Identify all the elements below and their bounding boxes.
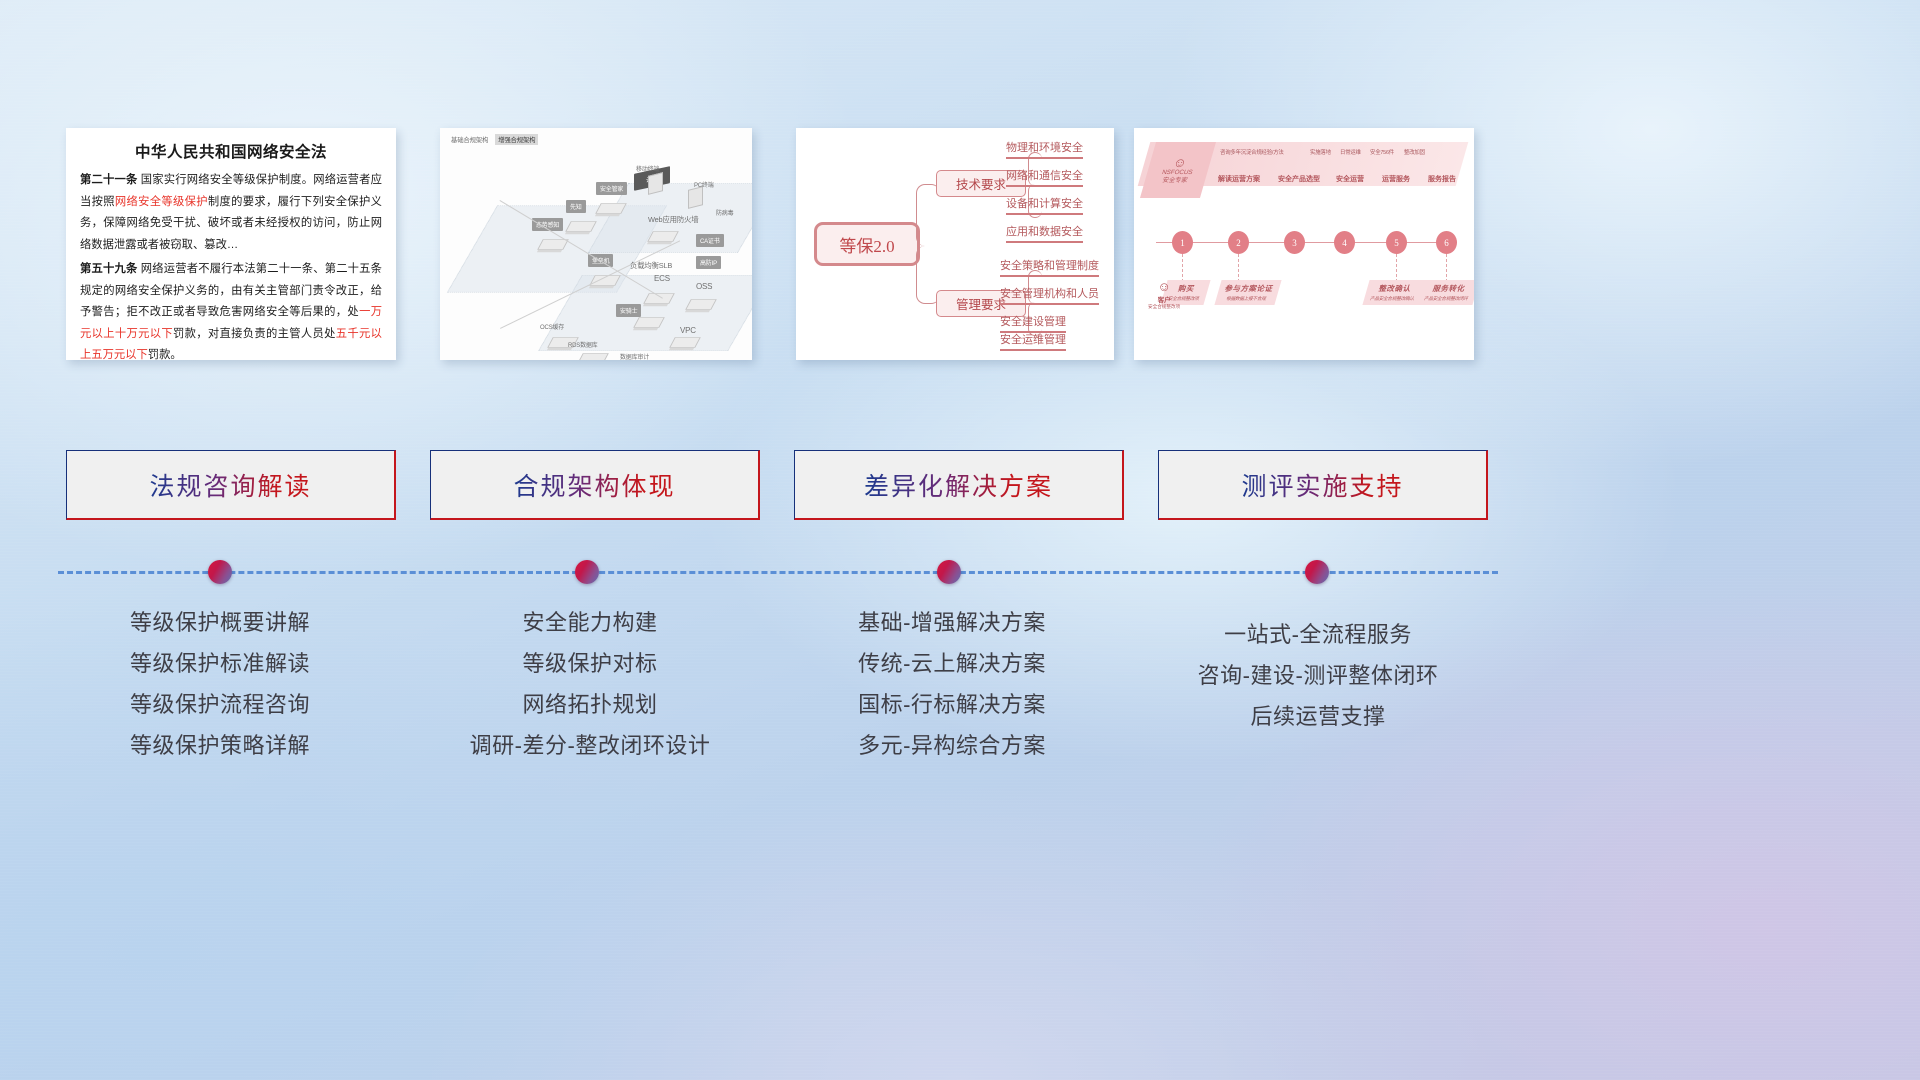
nsfocus-badge-line2: 安全专家: [1161, 177, 1188, 185]
timeline: [0, 560, 1920, 584]
mind-map-leaf-mgmt-3: 安全建设管理: [1000, 316, 1066, 333]
nsfocus-diagram: ☺ NSFOCUS 安全专家 咨询多年沉淀合规经验/方法 实施落地 日常运维 安…: [1134, 128, 1474, 360]
nsfocus-top-label-5: 整改加固: [1404, 148, 1425, 156]
node-label-vpc: VPC: [676, 324, 700, 337]
mind-map-leaf-tech-2: 网络和通信安全: [1006, 170, 1083, 187]
node-label-anqishi: 安骑士: [616, 304, 641, 317]
law-seg-2-2: 罚款，对直接负责的主管人员处: [173, 328, 336, 340]
node-label-waf: Web应用防火墙: [644, 212, 702, 227]
category-title-box-3[interactable]: 差异化解决方案: [794, 450, 1124, 520]
mind-map-leaf-tech-3: 设备和计算安全: [1006, 198, 1083, 215]
category-title-row: 法规咨询解读 合规架构体现 差异化解决方案 测评实施支持: [0, 450, 1920, 520]
nsfocus-chip-4-title: 服务转化: [1432, 283, 1467, 294]
nsfocus-chip-3-title: 整改确认: [1378, 283, 1413, 294]
nsfocus-chip-4: 服务转化 产品安全合规整改闭环: [1416, 280, 1474, 305]
node-label-slb: 负载均衡SLB: [626, 258, 676, 273]
node-label-oss: OSS: [692, 280, 716, 293]
nsfocus-chip-2: 参与方案论证 根据数据上报不合规: [1214, 280, 1281, 305]
list-item: 等级保护对标: [390, 643, 790, 684]
timeline-dot-1[interactable]: [208, 560, 232, 584]
nsfocus-customer-label: 客户: [1148, 294, 1180, 304]
nsfocus-dashed-2: [1238, 254, 1239, 282]
nsfocus-chip-2-sub: 根据数据上报不合规: [1225, 296, 1266, 302]
nsfocus-phase-5: 服务报告: [1428, 174, 1456, 184]
timeline-dot-2[interactable]: [575, 560, 599, 584]
mind-map-root: 等保2.0: [814, 222, 920, 266]
law-body: 中华人民共和国网络安全法 第二十一条 国家实行网络安全等级保护制度。网络运营者应…: [66, 128, 396, 360]
network-diagram: 基础合规架构 增强合规架构 云盾 安全管家 先知 态势感知 堡垒机 EC: [440, 128, 752, 360]
person-icon: ☺: [1172, 156, 1189, 169]
mind-map: 等保2.0 技术要求 管理要求 物理和环境安全 网络和通信安全 设备和计算安全 …: [796, 128, 1114, 360]
customer-person-icon: ☺: [1148, 280, 1180, 294]
nsfocus-phase-4: 运营服务: [1382, 174, 1410, 184]
nsfocus-customer-sub: 安全合规整改项: [1148, 304, 1180, 310]
node-cube-rds: [577, 353, 609, 360]
list-item: 国标-行标解决方案: [752, 684, 1152, 725]
tab-enhanced-architecture[interactable]: 增强合规架构: [495, 134, 538, 145]
mind-map-leaf-mgmt-1: 安全策略和管理制度: [1000, 260, 1099, 277]
category-title-label-3: 差异化解决方案: [864, 467, 1053, 503]
node-label-ca-cert: CA证书: [696, 234, 724, 247]
node-label-db-audit: 数据库审计: [616, 350, 653, 360]
nsfocus-dashed-3: [1396, 254, 1397, 282]
nsfocus-chip-3: 整改确认 产品安全合规整改确认: [1362, 280, 1425, 305]
law-seg-2-4: 罚款。: [148, 349, 182, 360]
category-title-label-4: 测评实施支持: [1241, 467, 1403, 503]
thumbnail-card-row: 中华人民共和国网络安全法 第二十一条 国家实行网络安全等级保护制度。网络运营者应…: [0, 128, 1920, 360]
list-item: 网络拓扑规划: [390, 684, 790, 725]
nsfocus-top-label-4: 安全756件: [1370, 148, 1394, 156]
mind-map-leaf-tech-4: 应用和数据安全: [1006, 226, 1083, 243]
nsfocus-phase-2: 安全产品选型: [1278, 174, 1320, 184]
nsfocus-node-5: 5: [1386, 231, 1407, 254]
category-title-label-2: 合规架构体现: [513, 467, 675, 503]
nsfocus-phase-1: 解读运营方案: [1218, 174, 1260, 184]
list-item: 等级保护策略详解: [20, 725, 420, 766]
node-label-security-butler: 安全管家: [596, 182, 627, 195]
law-paragraph-2: 第五十九条 网络运营者不履行本法第二十一条、第二十五条规定的网络安全保护义务的，…: [80, 259, 382, 360]
card-nsfocus-timeline[interactable]: ☺ NSFOCUS 安全专家 咨询多年沉淀合规经验/方法 实施落地 日常运维 安…: [1134, 128, 1474, 360]
card-network-architecture[interactable]: 基础合规架构 增强合规架构 云盾 安全管家 先知 态势感知 堡垒机 EC: [440, 128, 752, 360]
law-paragraph-1: 第二十一条 国家实行网络安全等级保护制度。网络运营者应当按照网络安全等级保护制度…: [80, 170, 382, 256]
nsfocus-phase-3: 安全运营: [1336, 174, 1364, 184]
category-title-box-4[interactable]: 测评实施支持: [1158, 450, 1488, 520]
nsfocus-chip-2-title: 参与方案论证: [1224, 283, 1275, 294]
node-label-mobile-terminal: 移动终端: [632, 162, 663, 175]
list-item: 一站式-全流程服务: [1118, 614, 1518, 655]
slide-root: 中华人民共和国网络安全法 第二十一条 国家实行网络安全等级保护制度。网络运营者应…: [0, 0, 1920, 1080]
category-title-label-1: 法规咨询解读: [149, 467, 311, 503]
list-item: 等级保护标准解读: [20, 643, 420, 684]
timeline-dot-4[interactable]: [1305, 560, 1329, 584]
category-title-box-1[interactable]: 法规咨询解读: [66, 450, 396, 520]
nsfocus-top-label-3: 日常运维: [1340, 148, 1361, 156]
nsfocus-chip-4-sub: 产品安全合规整改闭环: [1423, 296, 1469, 302]
detail-list-1: 等级保护概要讲解 等级保护标准解读 等级保护流程咨询 等级保护策略详解: [20, 602, 420, 766]
list-item: 咨询-建设-测评整体闭环: [1118, 655, 1518, 696]
nsfocus-top-label-1: 咨询多年沉淀合规经验/方法: [1220, 148, 1284, 156]
law-seg-1-1: 网络安全等级保护: [115, 196, 208, 208]
mind-map-leaf-tech-1: 物理和环境安全: [1006, 142, 1083, 159]
list-item: 传统-云上解决方案: [752, 643, 1152, 684]
list-item: 等级保护流程咨询: [20, 684, 420, 725]
timeline-dot-3[interactable]: [937, 560, 961, 584]
nsfocus-top-label-2: 实施落地: [1310, 148, 1331, 156]
list-item: 后续运营支撑: [1118, 696, 1518, 737]
law-title: 中华人民共和国网络安全法: [80, 140, 382, 162]
node-label-antivirus: 防病毒: [712, 206, 737, 219]
node-box-mobile-terminal: [648, 172, 663, 195]
node-label-anti-ddos-ip: 高防IP: [696, 256, 721, 269]
nsfocus-node-4: 4: [1334, 231, 1355, 254]
detail-list-4: 一站式-全流程服务 咨询-建设-测评整体闭环 后续运营支撑: [1118, 614, 1518, 737]
tab-basic-architecture[interactable]: 基础合规架构: [448, 134, 491, 145]
nsfocus-customer: ☺ 客户 安全合规整改项: [1148, 280, 1180, 310]
node-label-pc-terminal: PC终端: [690, 178, 718, 191]
list-item: 安全能力构建: [390, 602, 790, 643]
nsfocus-node-1: 1: [1172, 231, 1193, 254]
mind-map-leaf-mgmt-4: 安全运维管理: [1000, 334, 1066, 351]
nsfocus-node-3: 3: [1284, 231, 1305, 254]
node-label-rds: RDS数据库: [564, 338, 601, 351]
list-item: 等级保护概要讲解: [20, 602, 420, 643]
law-article-label-2: 第五十九条: [80, 263, 137, 275]
category-title-box-2[interactable]: 合规架构体现: [430, 450, 760, 520]
nsfocus-dashed-4: [1446, 254, 1447, 282]
list-item: 基础-增强解决方案: [752, 602, 1152, 643]
law-article-label-1: 第二十一条: [80, 174, 137, 186]
node-label-ocs-cache: OCS缓存: [536, 320, 568, 333]
nsfocus-badge-line1: NSFOCUS: [1161, 169, 1194, 177]
nsfocus-node-2: 2: [1228, 231, 1249, 254]
node-label-xianzhi: 先知: [566, 200, 586, 213]
card-mind-map[interactable]: 等保2.0 技术要求 管理要求 物理和环境安全 网络和通信安全 设备和计算安全 …: [796, 128, 1114, 360]
timeline-dashed-line: [58, 571, 1498, 574]
nsfocus-chip-3-sub: 产品安全合规整改确认: [1369, 296, 1415, 302]
nsfocus-dashed-1: [1182, 254, 1183, 282]
mind-map-leaf-mgmt-2: 安全管理机构和人员: [1000, 288, 1099, 305]
network-diagram-tabs[interactable]: 基础合规架构 增强合规架构: [448, 134, 538, 145]
nsfocus-axis-line: [1156, 242, 1456, 243]
detail-list-3: 基础-增强解决方案 传统-云上解决方案 国标-行标解决方案 多元-异构综合方案: [752, 602, 1152, 766]
list-item: 多元-异构综合方案: [752, 725, 1152, 766]
list-item: 调研-差分-整改闭环设计: [390, 725, 790, 766]
card-law-document[interactable]: 中华人民共和国网络安全法 第二十一条 国家实行网络安全等级保护制度。网络运营者应…: [66, 128, 396, 360]
nsfocus-node-6: 6: [1436, 231, 1457, 254]
detail-list-2: 安全能力构建 等级保护对标 网络拓扑规划 调研-差分-整改闭环设计: [390, 602, 790, 766]
node-label-ecs: ECS: [650, 272, 674, 285]
